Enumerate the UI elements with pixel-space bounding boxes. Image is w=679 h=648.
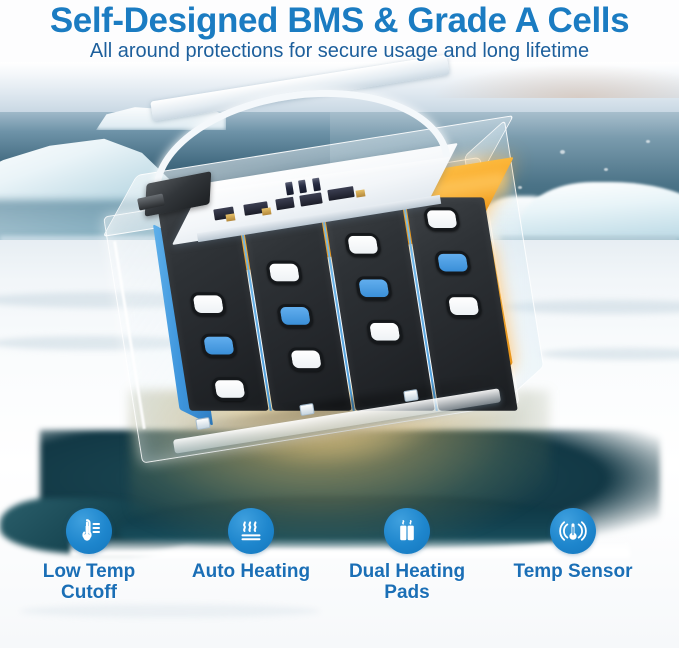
feature-label-line1: Low Temp — [4, 562, 174, 583]
page-title: Self-Designed BMS & Grade A Cells — [0, 1, 679, 41]
feature-temp-sensor: Temp Sensor — [488, 508, 658, 583]
feature-label-line2: Cutoff — [4, 583, 174, 604]
feature-low-temp-cutoff: Low Temp Cutoff — [4, 508, 174, 603]
bms-contact-pad — [356, 189, 366, 197]
feature-label: Temp Sensor — [488, 562, 658, 583]
cell-terminal-negative — [276, 304, 314, 328]
feature-row: Low Temp Cutoff Auto Heating — [0, 508, 679, 638]
bms-contact-pad — [262, 207, 272, 215]
cell-terminal-negative — [434, 251, 472, 275]
cell-terminal-negative — [200, 334, 238, 358]
cell-terminal-positive — [211, 377, 249, 401]
thermometer-cold-icon — [66, 508, 112, 554]
cell-terminal-positive — [189, 292, 227, 316]
product-feature-banner: Self-Designed BMS & Grade A Cells All ar… — [0, 0, 679, 648]
dual-heating-pads-icon — [384, 508, 430, 554]
feature-label: Auto Heating — [166, 562, 336, 583]
cell-terminal-negative — [355, 276, 393, 300]
cell-terminal-positive — [287, 348, 325, 372]
feature-label-line1: Temp Sensor — [488, 562, 658, 583]
page-subtitle: All around protections for secure usage … — [0, 40, 679, 63]
bms-contact-pad — [226, 213, 236, 221]
cell-terminal-positive — [445, 294, 483, 318]
cell-terminal-positive — [344, 233, 382, 257]
feature-label-line1: Auto Heating — [166, 562, 336, 583]
feature-label: Low Temp Cutoff — [4, 562, 174, 603]
feature-dual-heating-pads: Dual Heating Pads — [322, 508, 492, 603]
case-clip — [403, 389, 419, 402]
feature-label: Dual Heating Pads — [322, 562, 492, 603]
heat-waves-icon — [228, 508, 274, 554]
cell-terminal-positive — [423, 207, 461, 231]
feature-label-line1: Dual Heating — [322, 562, 492, 583]
temperature-sensor-icon — [550, 508, 596, 554]
feature-auto-heating: Auto Heating — [166, 508, 336, 583]
cell-terminal-positive — [265, 261, 303, 285]
case-clip — [195, 417, 211, 430]
case-clip — [299, 403, 315, 416]
cell-terminal-positive — [366, 320, 404, 344]
feature-label-line2: Pads — [322, 583, 492, 604]
